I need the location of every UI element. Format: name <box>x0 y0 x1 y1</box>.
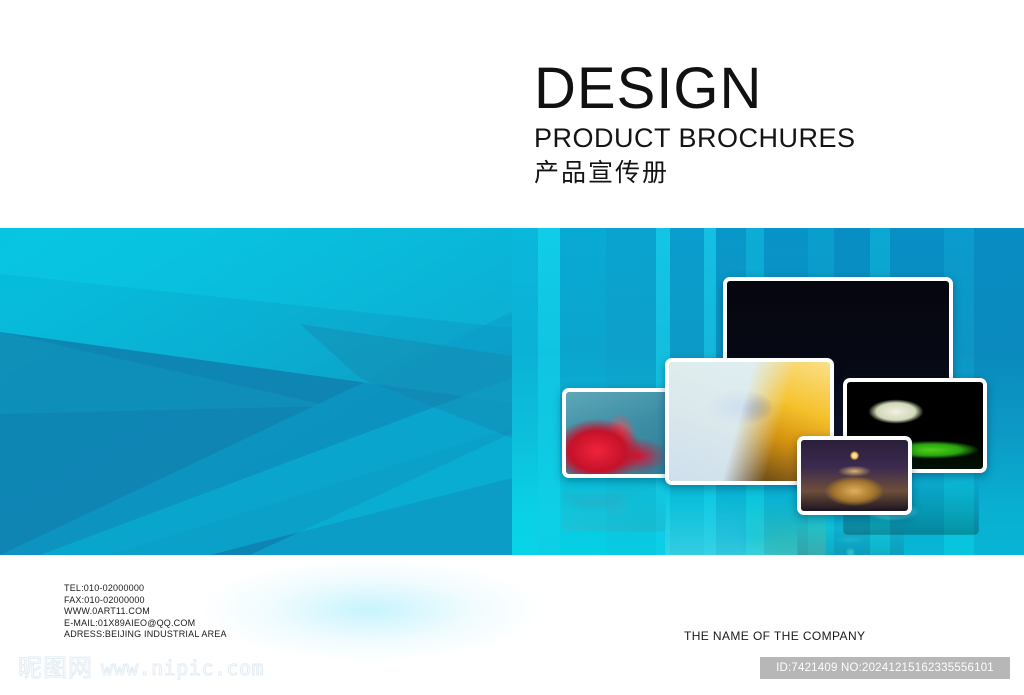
left-geometric-graphic <box>0 228 512 555</box>
contact-line-tel: TEL:010-02000000 <box>64 583 227 595</box>
title-block: DESIGN PRODUCT BROCHURES 产品宣传册 <box>534 58 994 190</box>
watermark-logo-text: 昵图网 <box>18 655 93 681</box>
nipic-watermark: 昵图网 www.nipic.com <box>18 655 264 681</box>
bg-stripe <box>538 228 560 555</box>
company-name: THE NAME OF THE COMPANY <box>684 629 865 643</box>
photo-red-flower <box>566 392 670 474</box>
stock-id-badge: ID:7421409 NO:20241215162335556101 <box>760 657 1010 679</box>
cover-artwork-panel <box>0 228 1024 555</box>
page-subtitle: PRODUCT BROCHURES <box>534 122 994 154</box>
page-title: DESIGN <box>534 58 994 120</box>
polygon-shapes <box>0 228 512 555</box>
stock-id-text: ID:7421409 NO:20241215162335556101 <box>776 662 994 674</box>
contact-line-fax: FAX:010-02000000 <box>64 595 227 607</box>
brochure-cover-page: DESIGN PRODUCT BROCHURES 产品宣传册 <box>0 0 1024 695</box>
contact-info-block: TEL:010-02000000 FAX:010-02000000 WWW.0A… <box>64 583 227 641</box>
reflection-red-flower <box>562 470 666 532</box>
bg-stripe <box>512 228 538 555</box>
page-title-chinese: 产品宣传册 <box>534 156 994 190</box>
contact-line-address: ADRESS:BEIJING INDUSTRIAL AREA <box>64 629 227 641</box>
photo-space-planet <box>801 440 908 511</box>
photo-frame-space[interactable] <box>797 436 912 515</box>
contact-line-website: WWW.0ART11.COM <box>64 606 227 618</box>
photo-frame-red-flower[interactable] <box>562 388 674 478</box>
watermark-url: www.nipic.com <box>101 657 264 679</box>
contact-line-email: E-MAIL:01X89AIEO@QQ.COM <box>64 618 227 630</box>
